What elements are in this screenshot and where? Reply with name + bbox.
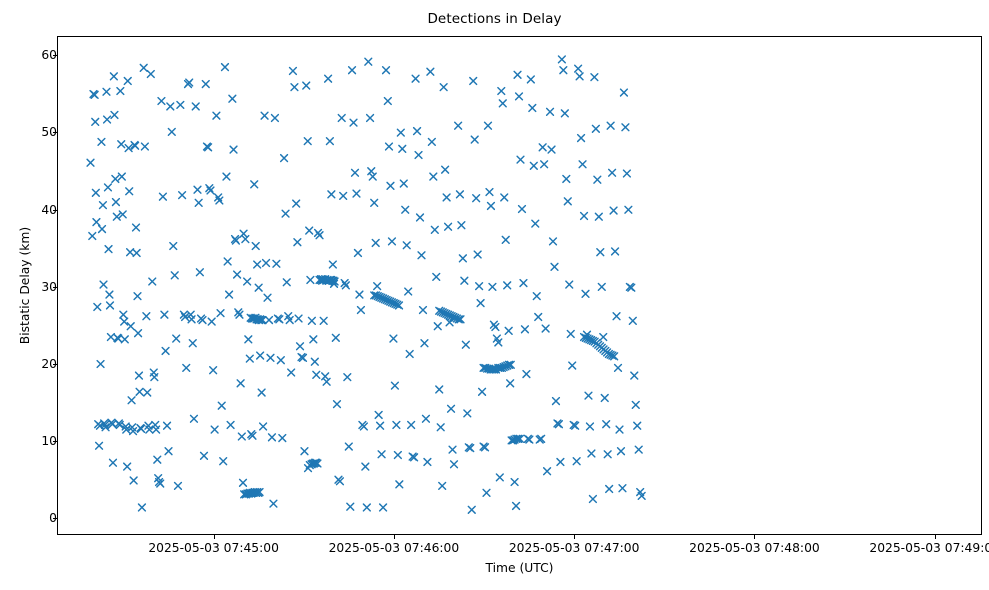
scatter-point — [513, 503, 520, 510]
scatter-point — [282, 210, 289, 217]
scatter-point — [431, 226, 438, 233]
scatter-point — [613, 313, 620, 320]
scatter-point — [113, 213, 120, 220]
scatter-point — [130, 477, 137, 484]
scatter-point — [389, 238, 396, 245]
scatter-point — [421, 340, 428, 347]
scatter-point — [210, 367, 217, 374]
scatter-point — [194, 186, 201, 193]
scatter-point — [561, 110, 568, 117]
scatter-point — [610, 207, 617, 214]
scatter-point — [345, 443, 352, 450]
scatter-point — [136, 372, 143, 379]
scatter-point — [544, 468, 551, 475]
scatter-point — [106, 291, 113, 298]
scatter-point — [99, 226, 106, 233]
scatter-point — [151, 374, 158, 381]
scatter-point — [124, 78, 131, 85]
scatter-point — [281, 155, 288, 162]
scatter-point — [111, 112, 118, 119]
x-axis-label: Time (UTC) — [57, 561, 982, 575]
scatter-point — [632, 401, 639, 408]
scatter-point — [417, 214, 424, 221]
scatter-point — [387, 182, 394, 189]
scatter-point — [631, 372, 638, 379]
scatter-point — [340, 192, 347, 199]
scatter-point — [522, 326, 529, 333]
y-axis-label: Bistatic Delay (km) — [18, 36, 36, 535]
scatter-point — [288, 369, 295, 376]
scatter-point — [308, 317, 315, 324]
scatter-point — [218, 402, 225, 409]
scatter-point — [564, 198, 571, 205]
scatter-point — [279, 435, 286, 442]
scatter-point — [551, 263, 558, 270]
chart-title: Detections in Delay — [0, 11, 989, 27]
y-tick-mark — [53, 441, 57, 442]
x-tick-label: 2025-05-03 07:47:00 — [474, 541, 674, 555]
scatter-point — [579, 161, 586, 168]
scatter-point — [498, 88, 505, 95]
scatter-point — [541, 161, 548, 168]
scatter-point — [297, 343, 304, 350]
scatter-point — [263, 260, 270, 267]
scatter-point — [213, 112, 220, 119]
scatter-point — [377, 422, 384, 429]
scatter-point — [254, 261, 261, 268]
scatter-point — [246, 355, 253, 362]
scatter-point — [427, 68, 434, 75]
scatter-point — [173, 335, 180, 342]
scatter-point — [567, 331, 574, 338]
scatter-point — [105, 246, 112, 253]
scatter-point — [604, 451, 611, 458]
scatter-point — [516, 93, 523, 100]
scatter-point — [267, 354, 274, 361]
scatter-point — [97, 361, 104, 368]
scatter-point — [464, 410, 471, 417]
scatter-point — [486, 189, 493, 196]
scatter-point — [591, 74, 598, 81]
scatter-point — [615, 364, 622, 371]
scatter-point — [483, 489, 490, 496]
scatter-point — [139, 504, 146, 511]
scatter-point — [374, 283, 381, 290]
scatter-point — [578, 135, 585, 142]
scatter-point — [177, 101, 184, 108]
scatter-point — [165, 448, 172, 455]
scatter-point — [367, 115, 374, 122]
scatter-point — [393, 422, 400, 429]
scatter-point — [244, 278, 251, 285]
scatter-point — [634, 422, 641, 429]
scatter-point — [227, 422, 234, 429]
scatter-point — [293, 200, 300, 207]
y-axis-tick-marks — [53, 0, 57, 590]
scatter-point — [301, 448, 308, 455]
x-tick-mark — [394, 535, 395, 539]
scatter-point — [399, 145, 406, 152]
scatter-point — [479, 388, 486, 395]
scatter-point — [110, 459, 117, 466]
x-tick-label: 2025-05-03 07:46:00 — [294, 541, 494, 555]
scatter-point — [400, 180, 407, 187]
scatter-point — [283, 279, 290, 286]
scatter-point — [192, 103, 199, 110]
scatter-point — [277, 357, 284, 364]
scatter-point — [136, 388, 143, 395]
scatter-point — [372, 240, 379, 247]
scatter-point — [606, 486, 613, 493]
scatter-point — [230, 146, 237, 153]
scatter-point — [504, 282, 511, 289]
scatter-point — [170, 243, 177, 250]
scatter-point — [363, 504, 370, 511]
y-tick-mark — [53, 287, 57, 288]
scatter-point — [358, 307, 365, 314]
scatter-point — [113, 199, 120, 206]
scatter-point — [535, 314, 542, 321]
x-tick-mark — [935, 535, 936, 539]
scatter-point — [92, 118, 99, 125]
scatter-point — [623, 170, 630, 177]
scatter-point — [126, 188, 133, 195]
scatter-point — [104, 116, 111, 123]
scatter-point — [532, 220, 539, 227]
scatter-point — [350, 119, 357, 126]
scatter-point — [548, 146, 555, 153]
scatter-point — [96, 442, 103, 449]
scatter-point — [258, 389, 265, 396]
scatter-point — [171, 272, 178, 279]
scatter-point — [135, 330, 142, 337]
scatter-point — [313, 371, 320, 378]
scatter-point — [383, 67, 390, 74]
scatter-point — [341, 280, 348, 287]
scatter-point — [457, 191, 464, 198]
scatter-point — [581, 213, 588, 220]
scatter-point — [406, 351, 413, 358]
scatter-point — [473, 195, 480, 202]
scatter-point — [455, 122, 462, 129]
scatter-point — [356, 291, 363, 298]
scatter-point — [245, 336, 252, 343]
scatter-point — [616, 426, 623, 433]
scatter-point — [255, 284, 262, 291]
scatter-point — [201, 452, 208, 459]
scatter-point — [428, 138, 435, 145]
scatter-point — [451, 461, 458, 468]
scatter-point — [418, 252, 425, 259]
scatter-point — [127, 249, 134, 256]
scatter-point — [609, 169, 616, 176]
scatter-point — [459, 255, 466, 262]
scatter-point — [384, 98, 391, 105]
scatter-point — [519, 206, 526, 213]
scatter-point — [502, 236, 509, 243]
scatter-point — [592, 125, 599, 132]
scatter-point — [547, 108, 554, 115]
scatter-point — [128, 397, 135, 404]
scatter-point — [195, 199, 202, 206]
scatter-point — [266, 317, 273, 324]
scatter-point — [180, 311, 187, 318]
scatter-point — [257, 352, 264, 359]
scatter-point — [405, 288, 412, 295]
scatter-point — [619, 485, 626, 492]
scatter-point — [226, 291, 233, 298]
scatter-point — [164, 422, 171, 429]
scatter-point — [352, 169, 359, 176]
scatter-point — [117, 88, 124, 95]
scatter-point — [439, 482, 446, 489]
scatter-point — [403, 242, 410, 249]
scatter-point — [108, 334, 115, 341]
scatter-point — [436, 386, 443, 393]
scatter-point — [235, 309, 242, 316]
scatter-point — [261, 112, 268, 119]
scatter-point — [188, 316, 195, 323]
scatter-point — [397, 129, 404, 136]
scatter-point — [412, 75, 419, 82]
scatter-point — [492, 324, 499, 331]
scatter-point — [458, 222, 465, 229]
scatter-point — [191, 415, 198, 422]
scatter-point — [118, 141, 125, 148]
scatter-point — [252, 243, 259, 250]
scatter-point — [557, 459, 564, 466]
scatter-point — [529, 105, 536, 112]
scatter-point — [134, 293, 141, 300]
scatter-point — [307, 277, 314, 284]
scatter-point — [347, 503, 354, 510]
scatter-point — [326, 138, 333, 145]
scatter-point — [539, 144, 546, 151]
scatter-point — [625, 206, 632, 213]
scatter-point — [329, 261, 336, 268]
scatter-point — [496, 474, 503, 481]
scatter-point — [598, 283, 605, 290]
scatter-point — [390, 335, 397, 342]
scatter-point — [430, 173, 437, 180]
scatter-point — [306, 227, 313, 234]
scatter-point — [269, 434, 276, 441]
x-tick-mark — [214, 535, 215, 539]
scatter-point — [392, 382, 399, 389]
scatter-point — [530, 162, 537, 169]
scatter-point — [100, 281, 107, 288]
scatter-point — [408, 422, 415, 429]
scatter-point — [224, 258, 231, 265]
scatter-point — [365, 58, 372, 65]
scatter-point — [238, 433, 245, 440]
scatter-point — [304, 138, 311, 145]
scatter-point — [448, 405, 455, 412]
x-tick-mark — [754, 535, 755, 539]
scatter-point — [118, 173, 125, 180]
scatter-point — [133, 250, 140, 257]
scatter-point — [471, 136, 478, 143]
scatter-point — [402, 206, 409, 213]
scatter-point — [290, 68, 297, 75]
scatter-point — [618, 448, 625, 455]
scatter-point — [449, 446, 456, 453]
scatter-point — [585, 392, 592, 399]
scatter-point — [612, 248, 619, 255]
scatter-point — [488, 203, 495, 210]
scatter-point — [93, 219, 100, 226]
scatter-point — [325, 75, 332, 82]
scatter-point — [386, 143, 393, 150]
y-tick-mark — [53, 210, 57, 211]
scatter-point — [635, 446, 642, 453]
scatter-point — [462, 341, 469, 348]
scatter-point — [160, 193, 167, 200]
scatter-point — [295, 315, 302, 322]
scatter-point — [622, 124, 629, 131]
scatter-point — [223, 173, 230, 180]
scatter-point — [270, 500, 277, 507]
scatter-point — [437, 424, 444, 431]
scatter-point — [588, 450, 595, 457]
scatter-point — [582, 290, 589, 297]
scatter-point — [240, 230, 247, 237]
scatter-point — [369, 173, 376, 180]
scatter-point — [103, 88, 110, 95]
scatter-point — [175, 482, 182, 489]
scatter-point — [264, 294, 271, 301]
scatter-point — [517, 156, 524, 163]
scatter-point — [141, 143, 148, 150]
scatter-point — [143, 313, 150, 320]
scatter-point — [98, 138, 105, 145]
scatter-point — [505, 327, 512, 334]
y-tick-mark — [53, 132, 57, 133]
scatter-point — [573, 458, 580, 465]
scatter-point — [380, 504, 387, 511]
scatter-point — [607, 122, 614, 129]
scatter-point — [121, 336, 128, 343]
scatter-point — [303, 82, 310, 89]
scatter-point — [594, 176, 601, 183]
scatter-point — [189, 340, 196, 347]
y-tick-mark — [53, 364, 57, 365]
scatter-point — [220, 458, 227, 465]
scatter-point — [320, 317, 327, 324]
scatter-point — [94, 304, 101, 311]
scatter-point — [120, 311, 127, 318]
scatter-point — [236, 311, 243, 318]
scatter-point — [161, 311, 168, 318]
scatter-point — [353, 190, 360, 197]
scatter-point — [603, 421, 610, 428]
scatter-point — [328, 191, 335, 198]
scatter-point — [162, 348, 169, 355]
scatter-point — [520, 280, 527, 287]
scatter-point — [375, 412, 382, 419]
scatter-point — [179, 192, 186, 199]
scatter-point — [566, 281, 573, 288]
scatter-point — [523, 371, 530, 378]
scatter-point — [396, 481, 403, 488]
scatter-point — [507, 380, 514, 387]
scatter-point — [202, 81, 209, 88]
scatter-point — [527, 76, 534, 83]
scatter-point — [294, 239, 301, 246]
x-tick-label: 2025-05-03 07:48:00 — [654, 541, 854, 555]
scatter-point — [621, 89, 628, 96]
scatter-point — [237, 380, 244, 387]
scatter-point — [323, 378, 330, 385]
scatter-point — [133, 224, 140, 231]
scatter-point — [434, 323, 441, 330]
scatter-point — [92, 189, 99, 196]
scatter-point — [499, 100, 506, 107]
scatter-point — [349, 67, 356, 74]
scatter-point — [362, 463, 369, 470]
scatter-point — [514, 71, 521, 78]
scatter-point — [600, 334, 607, 341]
scatter-point — [124, 463, 131, 470]
scatter-point — [501, 194, 508, 201]
scatter-point — [569, 362, 576, 369]
scatter-point — [461, 277, 468, 284]
scatter-point — [240, 479, 247, 486]
scatter-point — [222, 64, 229, 71]
scatter-point — [87, 159, 94, 166]
scatter-point — [251, 181, 258, 188]
scatter-point — [183, 364, 190, 371]
scatter-point — [217, 310, 224, 317]
scatter-point — [338, 115, 345, 122]
scatter-point — [334, 401, 341, 408]
y-tick-mark — [53, 518, 57, 519]
scatter-point — [242, 236, 249, 243]
scatter-point — [542, 325, 549, 332]
scatter-point — [371, 199, 378, 206]
scatter-point — [147, 71, 154, 78]
scatter-point — [149, 278, 156, 285]
scatter-point — [440, 84, 447, 91]
scatter-point — [489, 283, 496, 290]
scatter-point — [433, 273, 440, 280]
scatter-markers — [58, 37, 982, 535]
scatter-point — [207, 187, 214, 194]
scatter-point — [153, 426, 160, 433]
scatter-point — [316, 232, 323, 239]
scatter-point — [394, 452, 401, 459]
scatter-point — [477, 300, 484, 307]
scatter-point — [272, 115, 279, 122]
x-axis-tick-marks — [0, 535, 989, 540]
x-tick-label: 2025-05-03 07:49:00 — [835, 541, 989, 555]
scatter-point — [229, 95, 236, 102]
scatter-point — [378, 451, 385, 458]
scatter-point — [601, 395, 608, 402]
scatter-point — [355, 250, 362, 257]
scatter-point — [575, 65, 582, 72]
x-tick-mark — [574, 535, 575, 539]
scatter-point — [424, 459, 431, 466]
scatter-point — [485, 122, 492, 129]
scatter-point — [344, 374, 351, 381]
scatter-point — [144, 389, 151, 396]
scatter-point — [587, 423, 594, 430]
scatter-point — [127, 323, 134, 330]
scatter-point — [211, 426, 218, 433]
scatter-point — [511, 479, 518, 486]
scatter-series — [58, 37, 981, 534]
